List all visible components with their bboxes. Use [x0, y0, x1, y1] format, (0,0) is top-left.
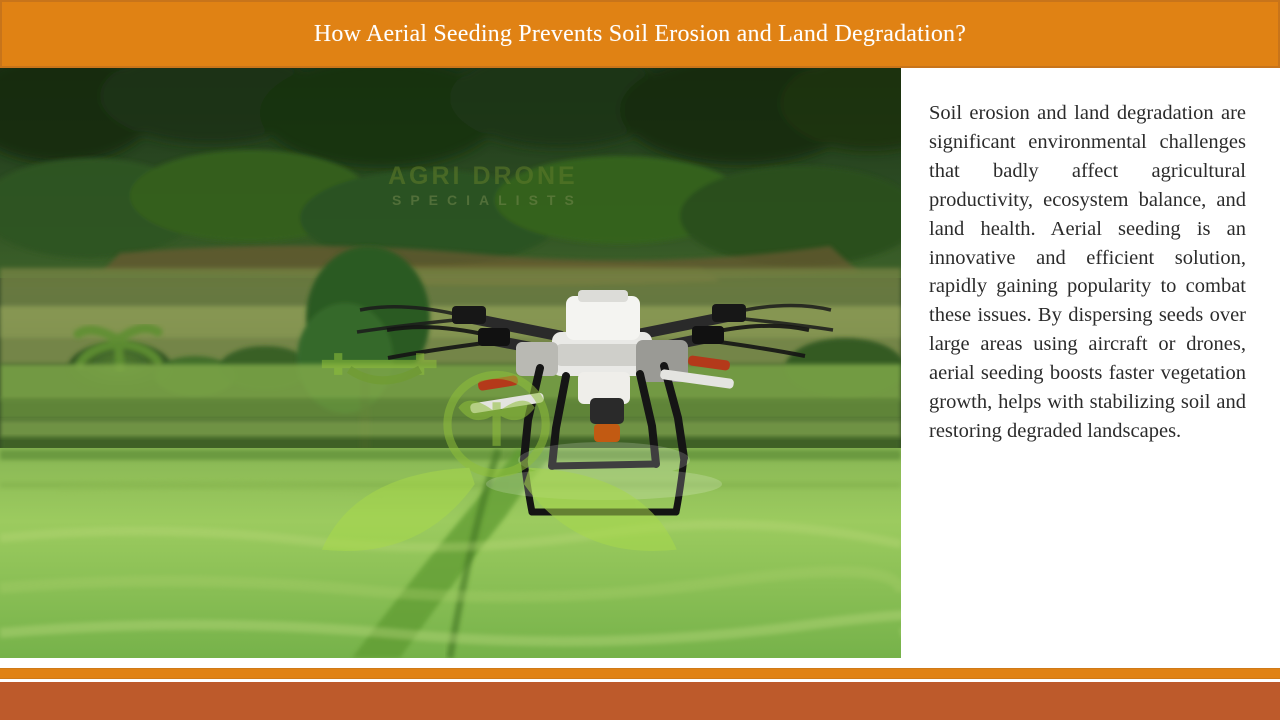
footer-band [0, 682, 1280, 720]
footer-accent-strip [0, 668, 1280, 679]
slide-title: How Aerial Seeding Prevents Soil Erosion… [314, 21, 966, 47]
drone-field-photo: AGRI DRONE SPECIALISTS [0, 68, 901, 658]
title-bar: How Aerial Seeding Prevents Soil Erosion… [0, 0, 1280, 68]
footer-white-gap [0, 658, 1280, 668]
body-paragraph: Soil erosion and land degradation are si… [929, 99, 1246, 446]
slide-canvas: How Aerial Seeding Prevents Soil Erosion… [0, 0, 1280, 720]
photo-illustration [0, 68, 901, 658]
body-text-panel: Soil erosion and land degradation are si… [901, 68, 1280, 658]
